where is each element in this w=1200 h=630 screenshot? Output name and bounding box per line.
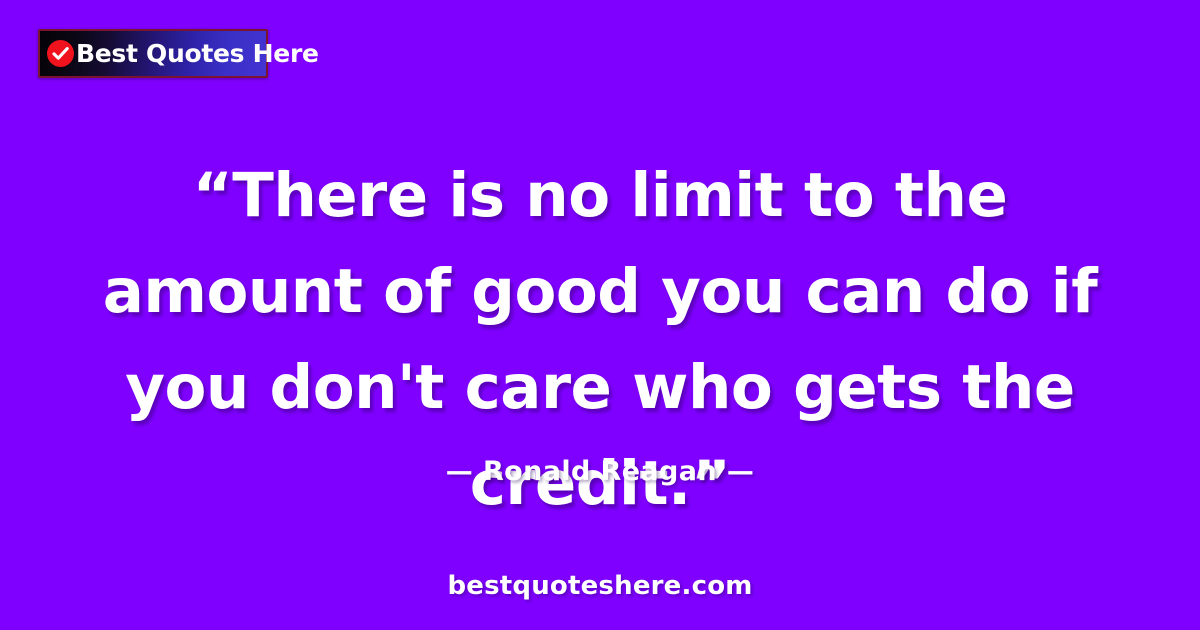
quote-attribution: — Ronald Reagan — (0, 456, 1200, 487)
quote-card: Best Quotes Here “There is no limit to t… (0, 0, 1200, 630)
logo-badge[interactable]: Best Quotes Here (38, 29, 268, 78)
logo-text: Best Quotes Here (76, 41, 319, 66)
footer-website: bestquoteshere.com (0, 571, 1200, 601)
check-circle-icon (47, 40, 74, 67)
